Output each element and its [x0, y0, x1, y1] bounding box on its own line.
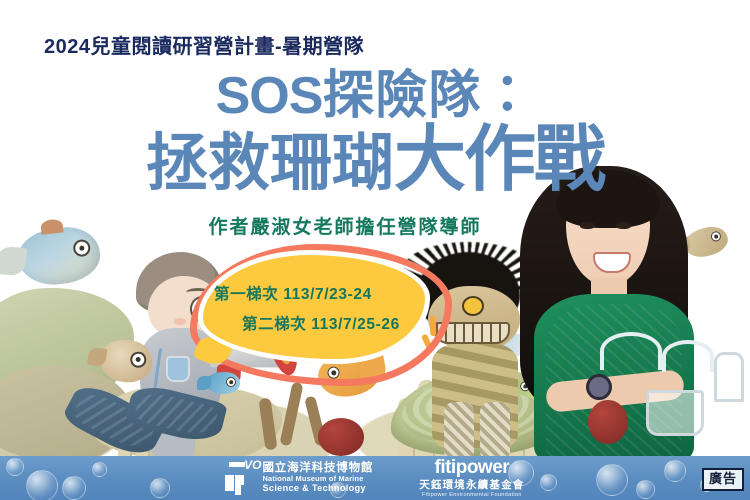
museum-mark-vo-text: VO — [244, 459, 261, 471]
headline-line-2: 拯救珊瑚大作戰 — [0, 124, 750, 197]
session-row-2: 第二梯次 113/7/25-26 — [214, 312, 432, 334]
headline-group: SOS探險隊： 拯救珊瑚大作戰 — [0, 70, 750, 197]
fish-eye — [226, 377, 236, 387]
glass-tube-prop-2 — [662, 340, 714, 372]
monster-eye — [462, 296, 484, 316]
museum-mark-icon: VO — [225, 463, 255, 493]
sponsor-logo-nmmst[interactable]: VO 國立海洋科技博物館 National Museum of Marine S… — [225, 462, 373, 493]
museum-logo-text: 國立海洋科技博物館 National Museum of Marine Scie… — [262, 462, 373, 493]
fitipower-name-en: Fitipower Environmental Foundation — [419, 492, 524, 498]
fitipower-wordmark: fitipower — [419, 458, 524, 479]
headline-line-1: SOS探險隊： — [0, 70, 750, 122]
boy-cheek — [174, 318, 186, 325]
session-dates-group: 第一梯次 113/7/23-24 第二梯次 113/7/25-26 — [196, 262, 432, 354]
fish-tail — [197, 376, 211, 390]
clamp-stand-prop — [714, 352, 744, 402]
sponsor-footer-bar: VO 國立海洋科技博物館 National Museum of Marine S… — [0, 456, 750, 500]
monster-leg-left — [444, 402, 474, 458]
fish-pufferfish — [97, 337, 154, 386]
glass-beaker-prop — [646, 390, 704, 436]
subtitle-text: 作者嚴淑女老師擔任營隊導師 — [0, 212, 690, 239]
boy-chest-badge — [166, 356, 190, 382]
museum-name-en-2: Science & Technology — [262, 483, 373, 493]
glass-tube-prop-1 — [600, 332, 662, 370]
fitipower-logo-text: fitipower 天鈺環境永續基金會 Fitipower Environmen… — [419, 458, 524, 499]
woman-wristwatch — [586, 374, 612, 400]
red-urchin — [318, 418, 364, 456]
sponsor-logos: VO 國立海洋科技博物館 National Museum of Marine S… — [0, 456, 750, 500]
sponsor-logo-fitipower[interactable]: fitipower 天鈺環境永續基金會 Fitipower Environmen… — [419, 458, 524, 499]
museum-name-en-1: National Museum of Marine — [262, 475, 373, 483]
fish-small-blue — [206, 372, 240, 394]
advertisement-label[interactable]: 廣告 — [702, 468, 744, 491]
red-ball-prop — [588, 400, 628, 444]
session-row-1: 第一梯次 113/7/23-24 — [214, 282, 432, 304]
headline-sos: SOS — [216, 67, 323, 125]
headline-line-2-a: 拯救珊瑚 — [146, 129, 394, 198]
advertisement-banner[interactable]: 第一梯次 113/7/23-24 第二梯次 113/7/25-26 2024兒童… — [0, 0, 750, 500]
headline-line-2-b: 大作戰 — [394, 120, 604, 200]
headline-line-1-rest: 探險隊： — [322, 67, 534, 125]
kicker-text: 2024兒童閱讀研習營計畫-暑期營隊 — [44, 30, 364, 59]
fitipower-name-zh: 天鈺環境永續基金會 — [419, 480, 524, 492]
